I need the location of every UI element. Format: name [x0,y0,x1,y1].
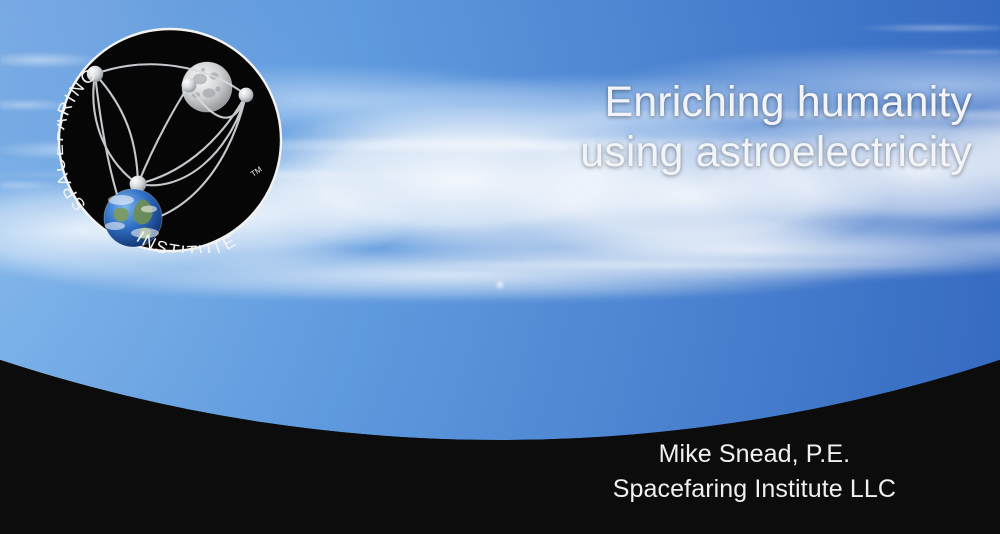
byline: Mike Snead, P.E. Spacefaring Institute L… [613,437,896,506]
slide-title: Enriching humanity using astroelectricit… [332,78,972,178]
title-slide: SPACEFARING INSTITUTE TM Enriching human… [0,0,1000,534]
logo-disk [59,29,281,251]
byline-author: Mike Snead, P.E. [613,437,896,472]
spacefaring-institute-logo: SPACEFARING INSTITUTE TM [57,27,283,253]
byline-organization: Spacefaring Institute LLC [613,472,896,507]
